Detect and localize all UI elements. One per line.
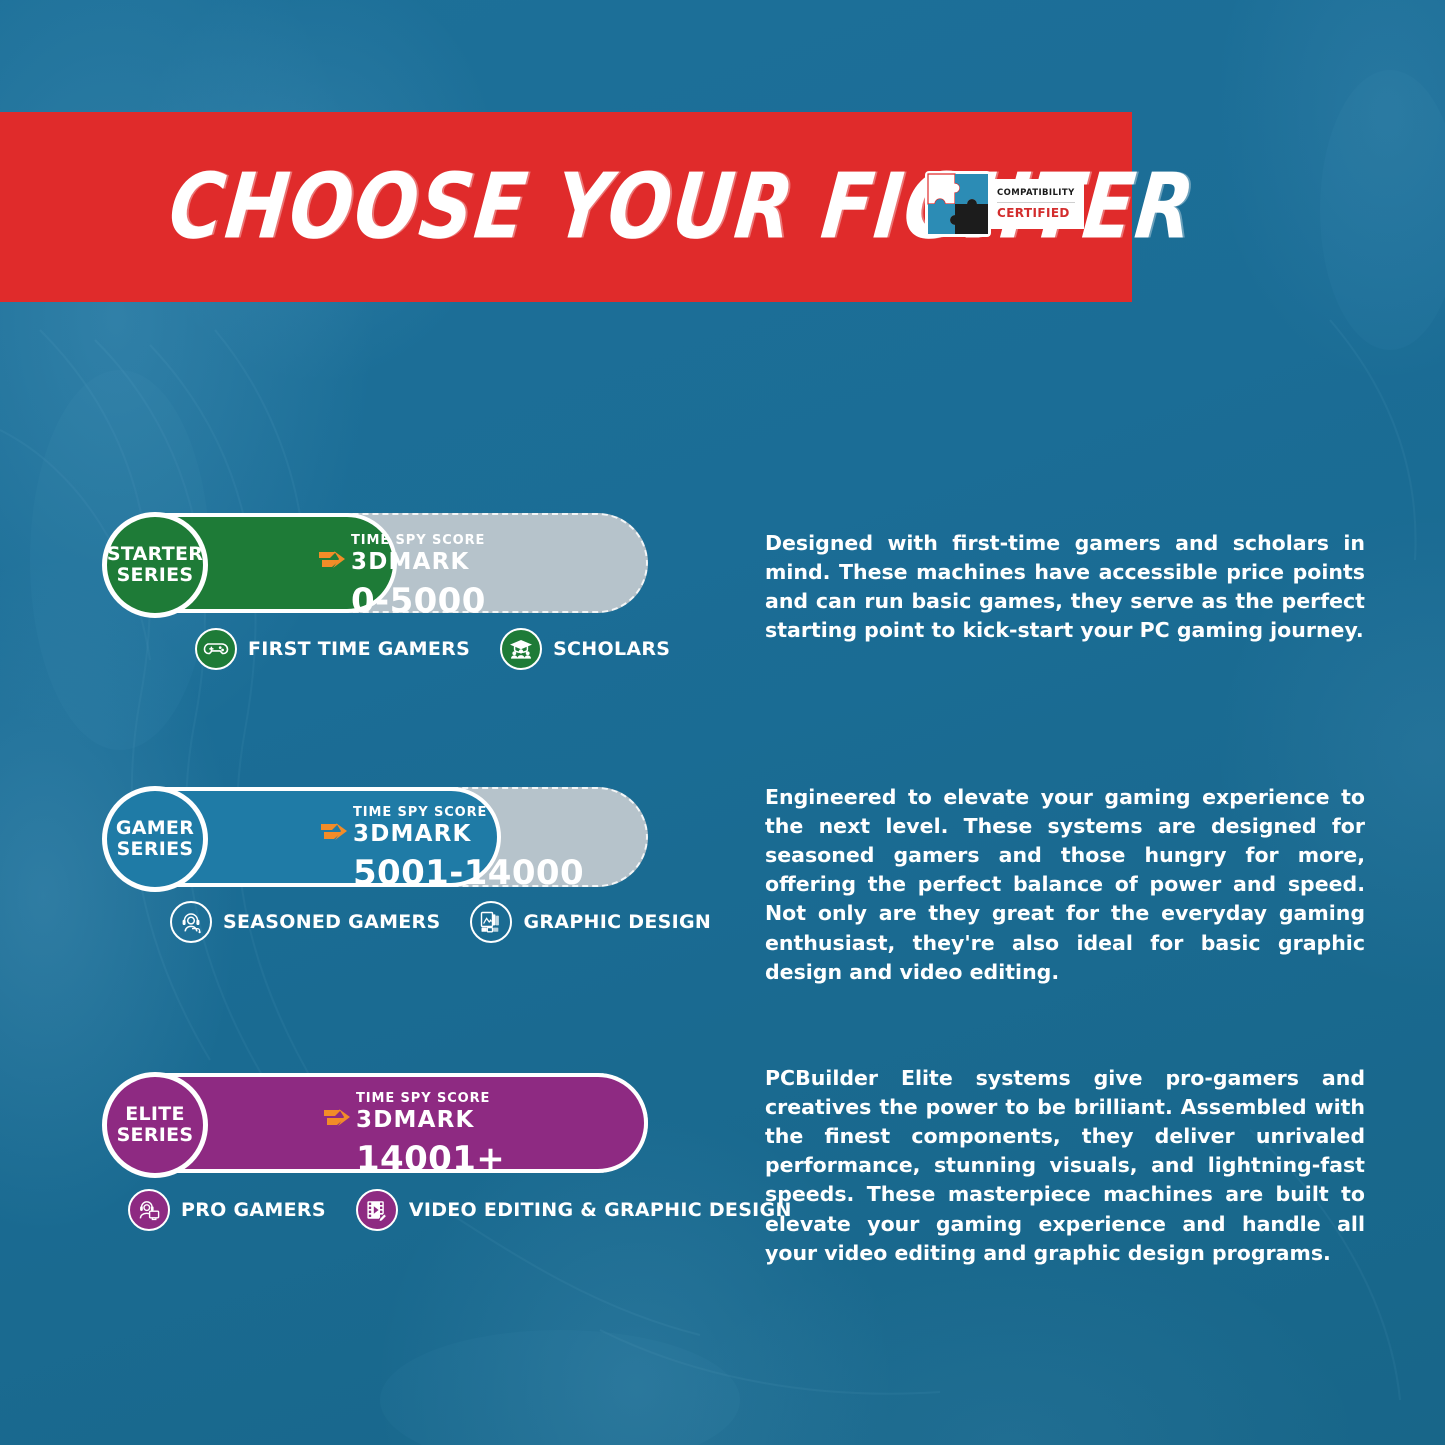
cert-badge-line2: CERTIFIED	[997, 207, 1075, 219]
tag-graphic-design[interactable]: GRAPHIC DESIGN	[470, 901, 711, 943]
tag-label: FIRST TIME GAMERS	[248, 638, 470, 660]
description-elite: PCBuilder Elite systems give pro-gamers …	[765, 1064, 1365, 1268]
swoosh-arrow-icon	[318, 543, 346, 577]
score-label-gamer: TIME SPY SCORE	[353, 805, 487, 821]
graduation-cap-people-icon	[500, 628, 542, 670]
score-value-gamer: 5001-14000	[353, 856, 584, 890]
video-edit-pencil-icon	[356, 1189, 398, 1231]
series-badge-gamer[interactable]: GAMER SERIES	[102, 786, 208, 892]
score-brand-elite: 3DMARK	[356, 1109, 490, 1132]
tag-label: GRAPHIC DESIGN	[523, 911, 711, 933]
color-swatch-design-icon	[470, 901, 512, 943]
score-block-elite: TIME SPY SCORE 3DMARK 14001+	[323, 1091, 505, 1176]
swoosh-arrow-icon	[320, 815, 348, 849]
tag-video-editing-graphic-design[interactable]: VIDEO EDITING & GRAPHIC DESIGN	[356, 1189, 792, 1231]
description-gamer: Engineered to elevate your gaming experi…	[765, 783, 1365, 987]
tag-pro-gamers[interactable]: PRO GAMERS	[128, 1189, 326, 1231]
series-badge-name: STARTER	[107, 544, 203, 565]
score-track-starter: STARTER SERIES TIME SPY SCORE 3DMARK 0-5…	[103, 513, 648, 613]
tag-label: SCHOLARS	[553, 638, 670, 660]
tag-row-elite: PRO GAMERS	[128, 1189, 822, 1231]
series-badge-elite[interactable]: ELITE SERIES	[102, 1072, 208, 1178]
swoosh-arrow-icon	[323, 1101, 351, 1135]
tag-label: VIDEO EDITING & GRAPHIC DESIGN	[409, 1199, 792, 1221]
puzzle-icon	[925, 171, 991, 237]
compatibility-certified-badge: COMPATIBILITY CERTIFIED	[925, 168, 1073, 240]
score-value-elite: 14001+	[356, 1142, 505, 1176]
cert-badge-line1: COMPATIBILITY	[997, 189, 1075, 203]
series-badge-series: SERIES	[117, 565, 194, 586]
tag-seasoned-gamers[interactable]: SEASONED GAMERS	[170, 901, 440, 943]
description-starter: Designed with first-time gamers and scho…	[765, 529, 1365, 645]
tag-row-gamer: SEASONED GAMERS GRAPHIC DESIGN	[170, 901, 741, 943]
tag-row-starter: FIRST TIME GAMERS SCHOLARS	[195, 628, 700, 670]
series-badge-name: ELITE	[125, 1104, 185, 1125]
series-badge-starter[interactable]: STARTER SERIES	[102, 512, 208, 618]
tag-first-time-gamers[interactable]: FIRST TIME GAMERS	[195, 628, 470, 670]
score-brand-starter: 3DMARK	[351, 551, 485, 574]
headset-gamer-icon	[170, 901, 212, 943]
tag-label: PRO GAMERS	[181, 1199, 326, 1221]
series-badge-series: SERIES	[117, 839, 194, 860]
series-badge-series: SERIES	[117, 1125, 194, 1146]
score-brand-gamer: 3DMARK	[353, 823, 487, 846]
series-badge-name: GAMER	[116, 818, 194, 839]
tag-label: SEASONED GAMERS	[223, 911, 440, 933]
tag-scholars[interactable]: SCHOLARS	[500, 628, 670, 670]
score-block-gamer: TIME SPY SCORE 3DMARK 5001-14000	[320, 805, 584, 890]
score-value-starter: 0-5000	[351, 584, 486, 618]
pro-gamer-monitor-icon	[128, 1189, 170, 1231]
score-label-elite: TIME SPY SCORE	[356, 1091, 490, 1107]
score-track-gamer: GAMER SERIES TIME SPY SCORE 3DMARK 5001-…	[103, 787, 648, 887]
gamepad-icon	[195, 628, 237, 670]
score-label-starter: TIME SPY SCORE	[351, 533, 485, 549]
score-track-elite: ELITE SERIES TIME SPY SCORE 3DMARK 14001…	[103, 1073, 648, 1173]
score-block-starter: TIME SPY SCORE 3DMARK 0-5000	[318, 533, 486, 618]
